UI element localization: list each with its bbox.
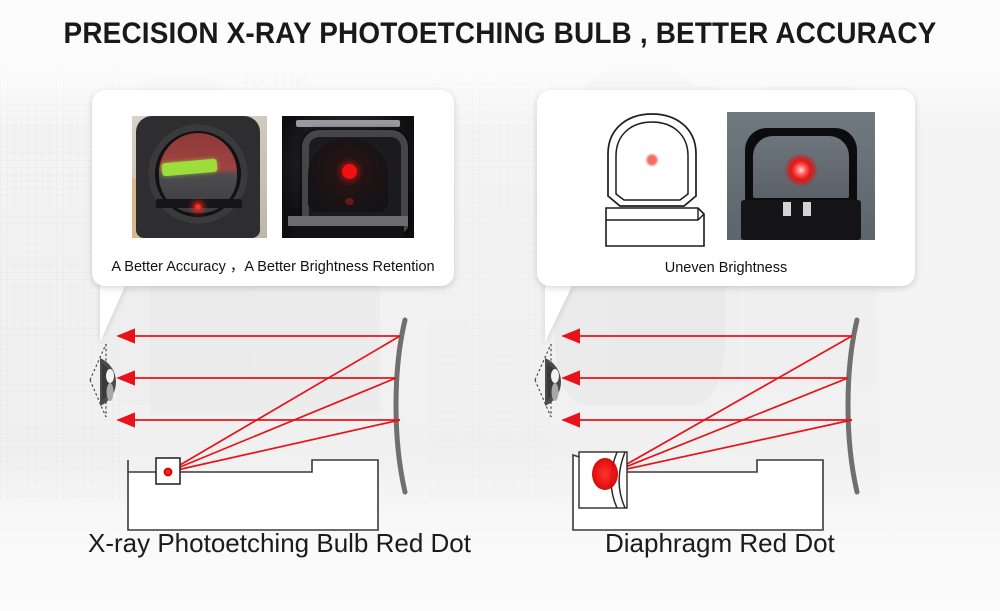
diffuse-light-source (592, 458, 618, 490)
callout-caption-left: A Better Accuracy ，A Better Brightness R… (92, 255, 454, 276)
callout-tail-left (100, 284, 126, 342)
red-dot-sight-green-reticle-photo (132, 116, 267, 238)
sight-mount-outline (606, 208, 704, 246)
ray-in-2 (168, 378, 396, 472)
infographic-stage: to the ma ur PRECISION X-RAY PHOTOETCHIN… (0, 0, 1000, 611)
diagram-label-diaphragm: Diaphragm Red Dot (605, 528, 835, 559)
callout-caption-right: Uneven Brightness (537, 260, 915, 276)
mount-pin-1 (783, 202, 791, 216)
callout-panel-left: A Better Accuracy ，A Better Brightness R… (92, 90, 454, 286)
uneven-red-dot-halo (785, 154, 817, 186)
page-title: PRECISION X-RAY PHOTOETCHING BULB , BETT… (35, 17, 965, 51)
sight-base-plate (288, 216, 408, 226)
red-dot-reticle (195, 204, 201, 210)
viewer-eye-symbol-right (535, 344, 561, 417)
sight-mount-foot (292, 226, 404, 238)
uneven-brightness-dot-photo (727, 112, 875, 240)
red-dot-sight-even-dot-photo (282, 116, 414, 238)
lens-arc-left (396, 320, 405, 492)
sight-mount-block (741, 200, 861, 240)
top-rail (296, 120, 400, 127)
callout-tail-right (545, 284, 573, 342)
dot-reflection (345, 198, 354, 205)
point-light-source (164, 468, 173, 477)
ray-in-1 (613, 336, 852, 472)
callout-panel-right: Uneven Brightness (537, 90, 915, 286)
faint-red-dot (645, 153, 659, 167)
mount-pin-2 (803, 202, 811, 216)
ray-in-1 (168, 336, 400, 472)
ray-in-2 (613, 378, 848, 472)
viewer-eye-symbol-left (90, 344, 116, 417)
sight-line-drawing (592, 110, 712, 250)
diagram-label-xray: X-ray Photoetching Bulb Red Dot (88, 528, 471, 559)
red-dot-reticle (342, 164, 357, 179)
lens-arc-right (848, 320, 857, 492)
